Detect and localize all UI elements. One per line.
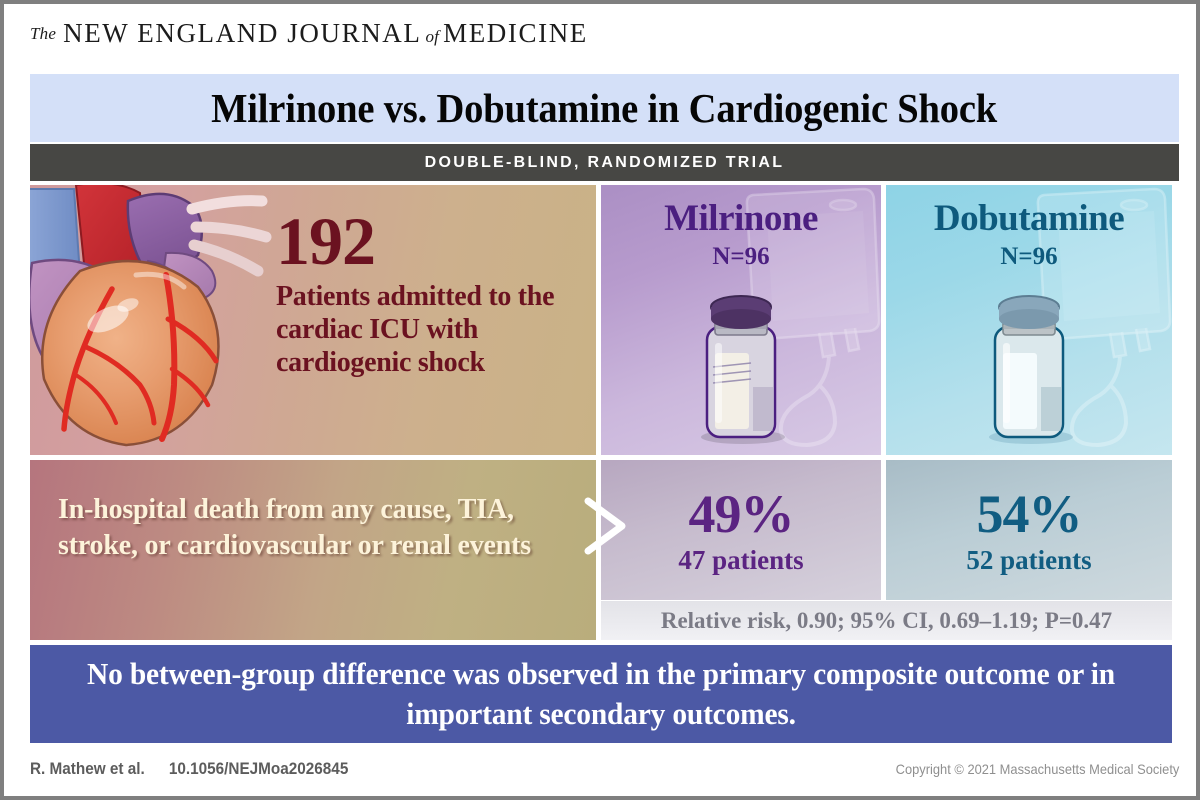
result-patients-dobutamine: 52 patients (966, 547, 1091, 574)
footer: R. Mathew et al. 10.1056/NEJMoa2026845 C… (30, 752, 1179, 786)
statistics-band: Relative risk, 0.90; 95% CI, 0.69–1.19; … (601, 601, 1172, 640)
conclusion-bar: No between-group difference was observed… (30, 645, 1172, 743)
arm-n-milrinone: N=96 (601, 243, 881, 271)
outcome-label: In-hospital death from any cause, TIA, s… (58, 492, 578, 563)
enrollment-count: 192 (276, 209, 596, 274)
nejm-masthead: The NEW ENGLAND JOURNAL of MEDICINE (30, 18, 588, 58)
arm-panel-dobutamine: Dobutamine N=96 (886, 185, 1172, 455)
drug-vial-icon (969, 283, 1089, 447)
result-percent-dobutamine: 54% (977, 487, 1082, 541)
enrollment-stat: 192 Patients admitted to the cardiac ICU… (276, 209, 596, 379)
masthead-title-part2: MEDICINE (443, 18, 588, 49)
infographic-frame: The NEW ENGLAND JOURNAL of MEDICINE Milr… (4, 4, 1196, 796)
arm-name-dobutamine: Dobutamine (886, 197, 1172, 240)
citation-authors: R. Mathew et al. (30, 759, 145, 778)
masthead-of: of (421, 27, 443, 47)
enrollment-caption: Patients admitted to the cardiac ICU wit… (276, 280, 596, 379)
citation-doi[interactable]: 10.1056/NEJMoa2026845 (169, 759, 348, 778)
subtitle-bar: DOUBLE-BLIND, RANDOMIZED TRIAL (30, 144, 1179, 181)
trial-design-label: DOUBLE-BLIND, RANDOMIZED TRIAL (425, 154, 785, 172)
chevron-right-icon (582, 497, 628, 555)
title-bar: Milrinone vs. Dobutamine in Cardiogenic … (30, 74, 1179, 142)
drug-vial-icon (681, 283, 801, 447)
copyright-notice: Copyright © 2021 Massachusetts Medical S… (895, 761, 1179, 777)
result-cell-dobutamine: 54% 52 patients (886, 460, 1172, 600)
outcome-panel: In-hospital death from any cause, TIA, s… (30, 460, 596, 640)
arm-panel-milrinone: Milrinone N=96 (601, 185, 881, 455)
page-title: Milrinone vs. Dobutamine in Cardiogenic … (212, 84, 998, 132)
arm-n-dobutamine: N=96 (886, 243, 1172, 271)
result-cell-milrinone: 49% 47 patients (601, 460, 881, 600)
heart-illustration-icon (30, 185, 316, 455)
citation: R. Mathew et al. 10.1056/NEJMoa2026845 (30, 759, 348, 779)
masthead-title-part1: NEW ENGLAND JOURNAL (63, 18, 421, 49)
arm-name-milrinone: Milrinone (601, 197, 881, 240)
masthead-the: The (30, 24, 56, 44)
statistics-text: Relative risk, 0.90; 95% CI, 0.69–1.19; … (661, 608, 1112, 634)
conclusion-text: No between-group difference was observed… (59, 654, 1144, 735)
enrollment-panel: 192 Patients admitted to the cardiac ICU… (30, 185, 596, 455)
result-patients-milrinone: 47 patients (678, 547, 803, 574)
result-percent-milrinone: 49% (689, 487, 794, 541)
